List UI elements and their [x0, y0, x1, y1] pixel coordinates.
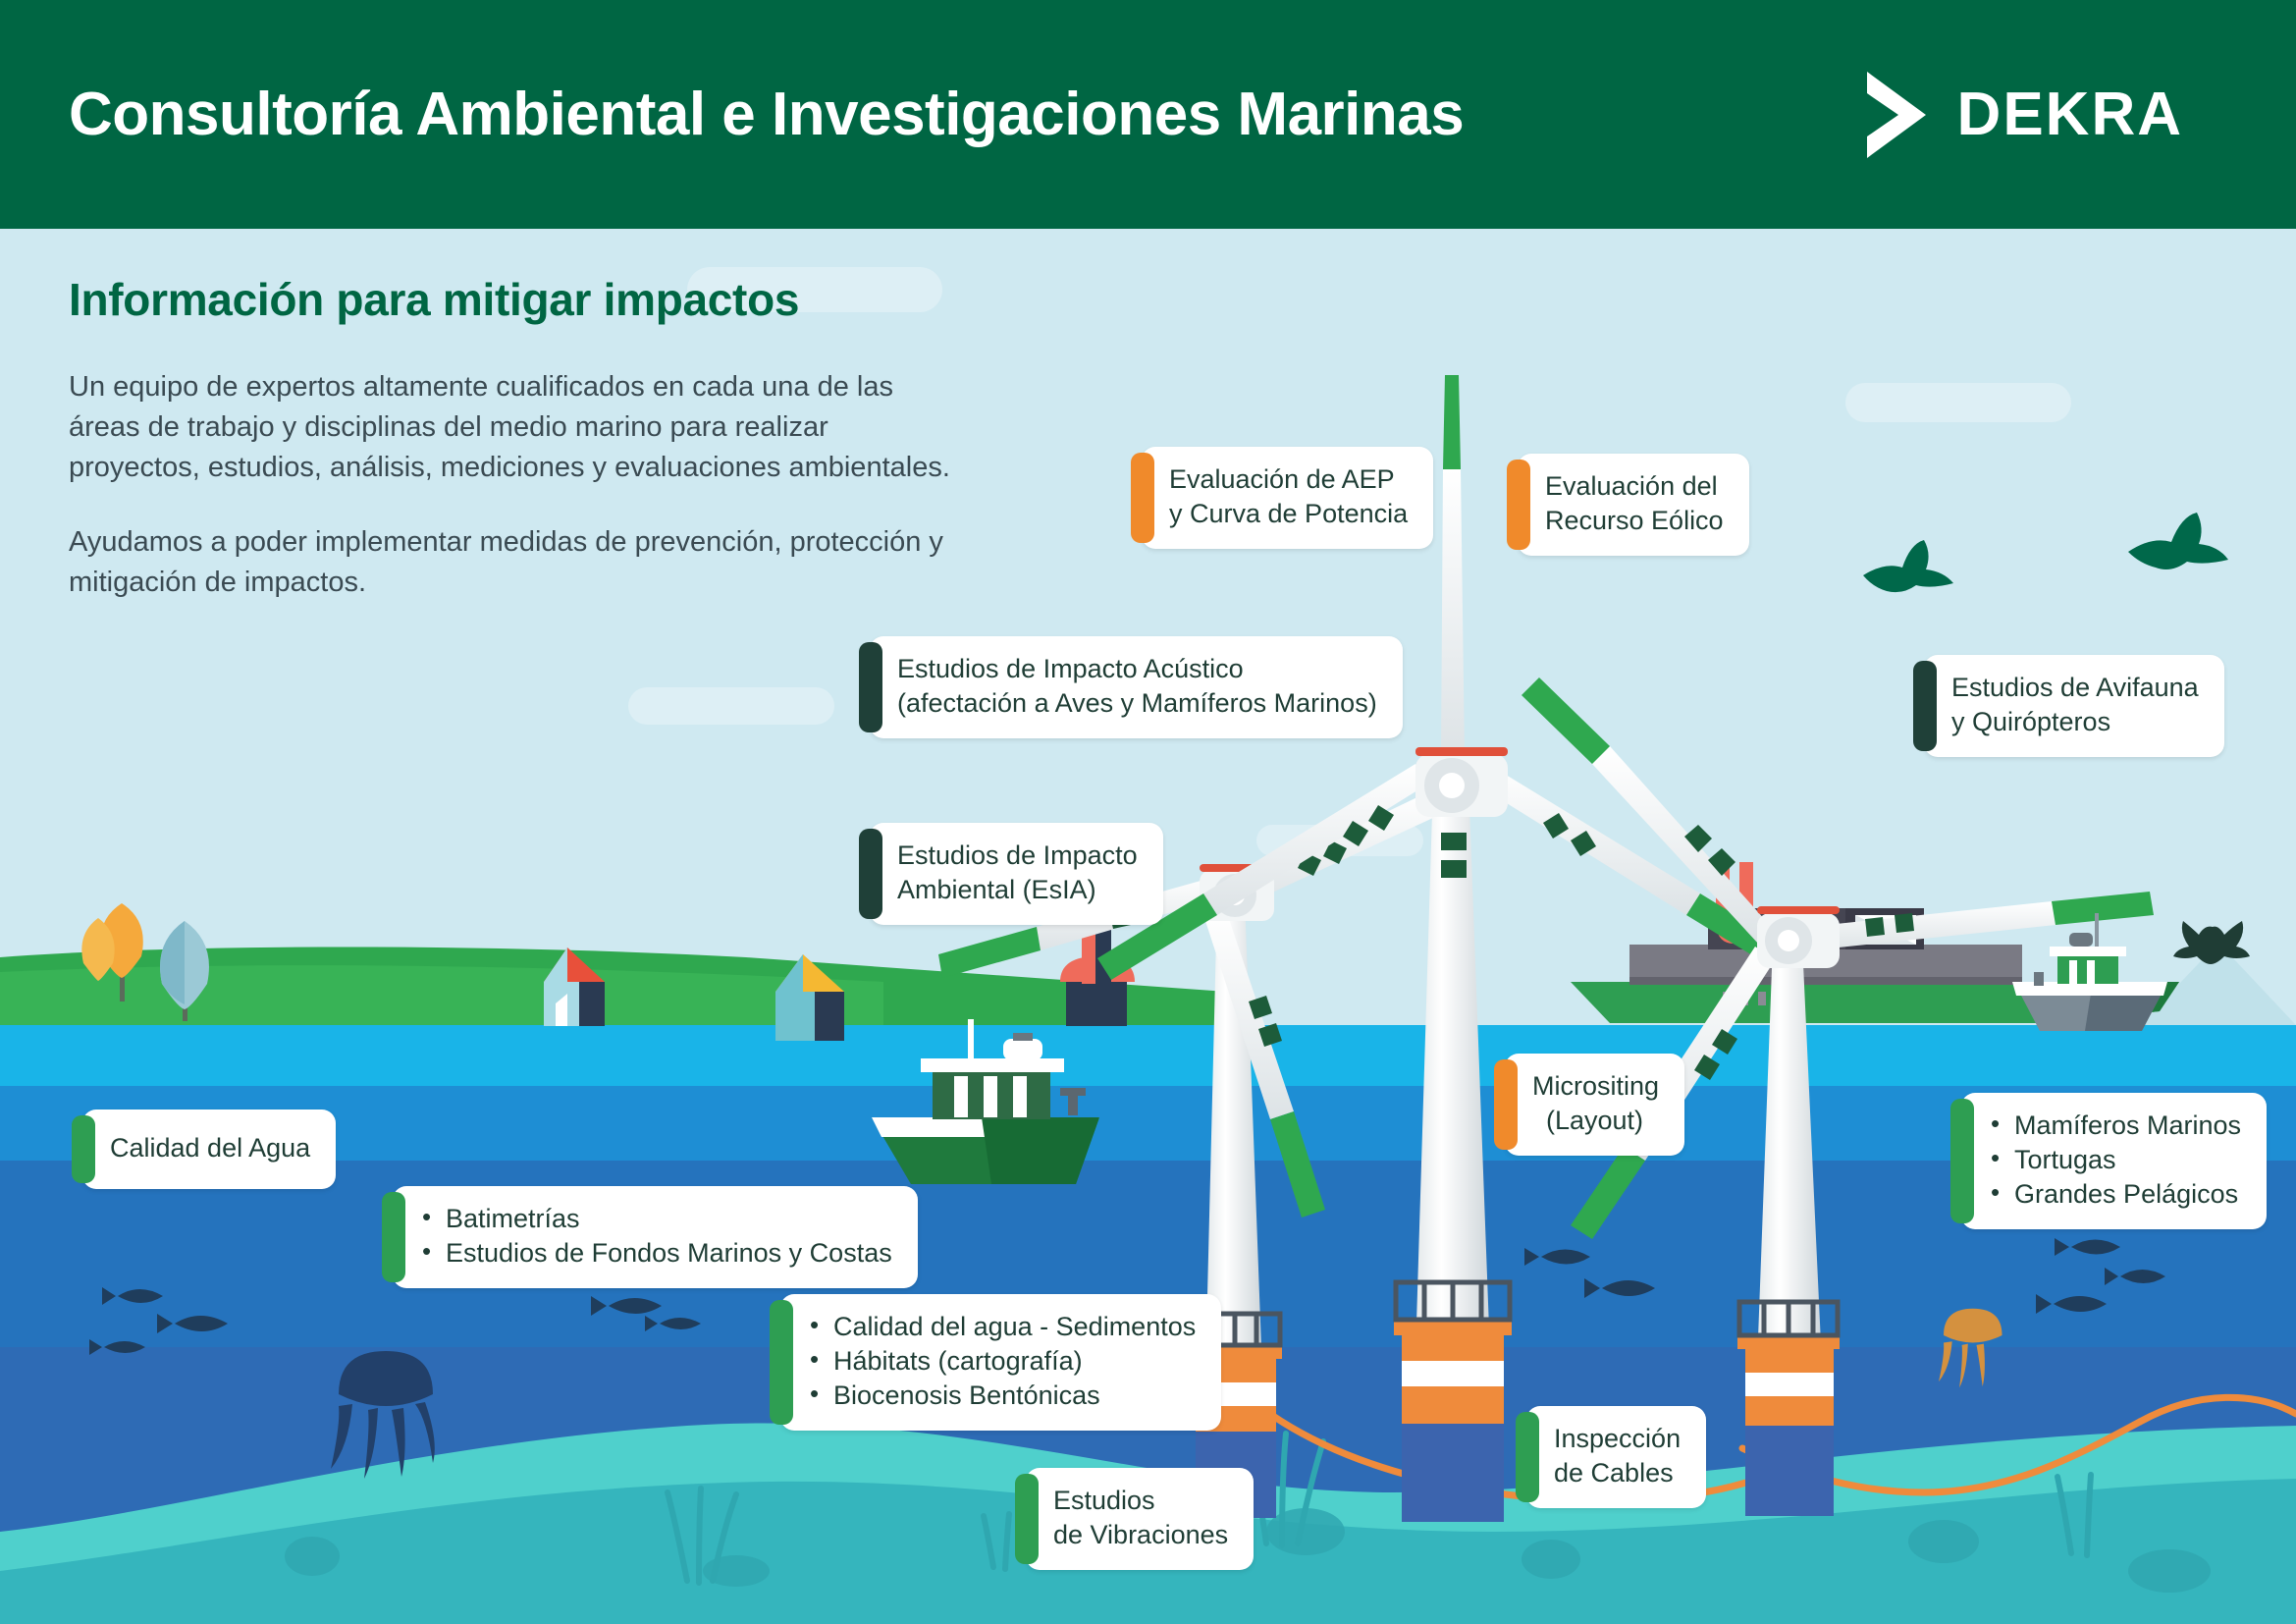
callout-micrositing[interactable]: Micrositing (Layout)	[1505, 1054, 1684, 1156]
callout-avifauna[interactable]: Estudios de Avifauna y Quirópteros	[1924, 655, 2224, 757]
list-item: Batimetrías	[420, 1202, 892, 1236]
callout-list: Batimetrías Estudios de Fondos Marinos y…	[420, 1202, 892, 1271]
callout-impacto-acustico[interactable]: Estudios de Impacto Acústico (afectación…	[870, 636, 1403, 738]
callout-line: de Cables	[1554, 1456, 1681, 1490]
callout-line: Evaluación del	[1545, 469, 1724, 504]
intro-paragraph-1: Un equipo de expertos altamente cualific…	[69, 367, 952, 489]
list-item: Estudios de Fondos Marinos y Costas	[420, 1236, 892, 1271]
infographic-canvas: Consultoría Ambiental e Investigaciones …	[0, 0, 2296, 1624]
callout-list: Mamíferos Marinos Tortugas Grandes Pelág…	[1989, 1109, 2241, 1212]
callout-evaluacion-aep[interactable]: Evaluación de AEP y Curva de Potencia	[1142, 447, 1433, 549]
callout-line: Ambiental (EsIA)	[897, 873, 1138, 907]
callout-line: (afectación a Aves y Mamíferos Marinos)	[897, 686, 1377, 721]
callout-line: y Quirópteros	[1951, 705, 2199, 739]
intro-block: Información para mitigar impactos Un equ…	[69, 273, 952, 636]
callout-line: Estudios de Impacto	[897, 839, 1138, 873]
callout-line: Estudios de Avifauna	[1951, 671, 2199, 705]
callout-vibraciones[interactable]: Estudios de Vibraciones	[1026, 1468, 1254, 1570]
cloud-4	[1256, 825, 1423, 856]
callout-line: y Curva de Potencia	[1169, 497, 1408, 531]
list-item: Grandes Pelágicos	[1989, 1177, 2241, 1212]
page-header: Consultoría Ambiental e Investigaciones …	[0, 0, 2296, 229]
intro-heading: Información para mitigar impactos	[69, 273, 952, 326]
dekra-wordmark: DEKRA	[1957, 80, 2183, 149]
callout-line: Evaluación de AEP	[1169, 462, 1408, 497]
callout-line: Estudios	[1053, 1484, 1228, 1518]
callout-line: Estudios de Impacto Acústico	[897, 652, 1377, 686]
callout-recurso-eolico[interactable]: Evaluación del Recurso Eólico	[1518, 454, 1749, 556]
callout-calidad-agua[interactable]: Calidad del Agua	[82, 1110, 336, 1189]
cloud-3	[628, 687, 834, 725]
callout-line: Calidad del Agua	[110, 1131, 310, 1165]
callout-fauna-marina[interactable]: Mamíferos Marinos Tortugas Grandes Pelág…	[1961, 1093, 2267, 1229]
cloud-2	[1845, 383, 2071, 422]
intro-paragraph-2: Ayudamos a poder implementar medidas de …	[69, 522, 952, 603]
callout-inspeccion-cables[interactable]: Inspección de Cables	[1526, 1406, 1706, 1508]
callout-line: de Vibraciones	[1053, 1518, 1228, 1552]
callout-impacto-ambiental[interactable]: Estudios de Impacto Ambiental (EsIA)	[870, 823, 1163, 925]
callout-list: Calidad del agua - Sedimentos Hábitats (…	[808, 1310, 1196, 1413]
callout-batimetrias[interactable]: Batimetrías Estudios de Fondos Marinos y…	[393, 1186, 918, 1288]
callout-line: Micrositing	[1532, 1069, 1659, 1104]
callout-line: Inspección	[1554, 1422, 1681, 1456]
callout-sedimentos[interactable]: Calidad del agua - Sedimentos Hábitats (…	[780, 1294, 1221, 1431]
dekra-triangle-icon	[1861, 70, 1932, 160]
water-surface-band	[0, 1025, 2296, 1086]
list-item: Biocenosis Bentónicas	[808, 1379, 1196, 1413]
dekra-logo: DEKRA	[1861, 70, 2227, 160]
callout-line: (Layout)	[1532, 1104, 1659, 1138]
list-item: Tortugas	[1989, 1143, 2241, 1177]
list-item: Mamíferos Marinos	[1989, 1109, 2241, 1143]
callout-line: Recurso Eólico	[1545, 504, 1724, 538]
list-item: Calidad del agua - Sedimentos	[808, 1310, 1196, 1344]
page-title: Consultoría Ambiental e Investigaciones …	[69, 80, 1464, 149]
list-item: Hábitats (cartografía)	[808, 1344, 1196, 1379]
